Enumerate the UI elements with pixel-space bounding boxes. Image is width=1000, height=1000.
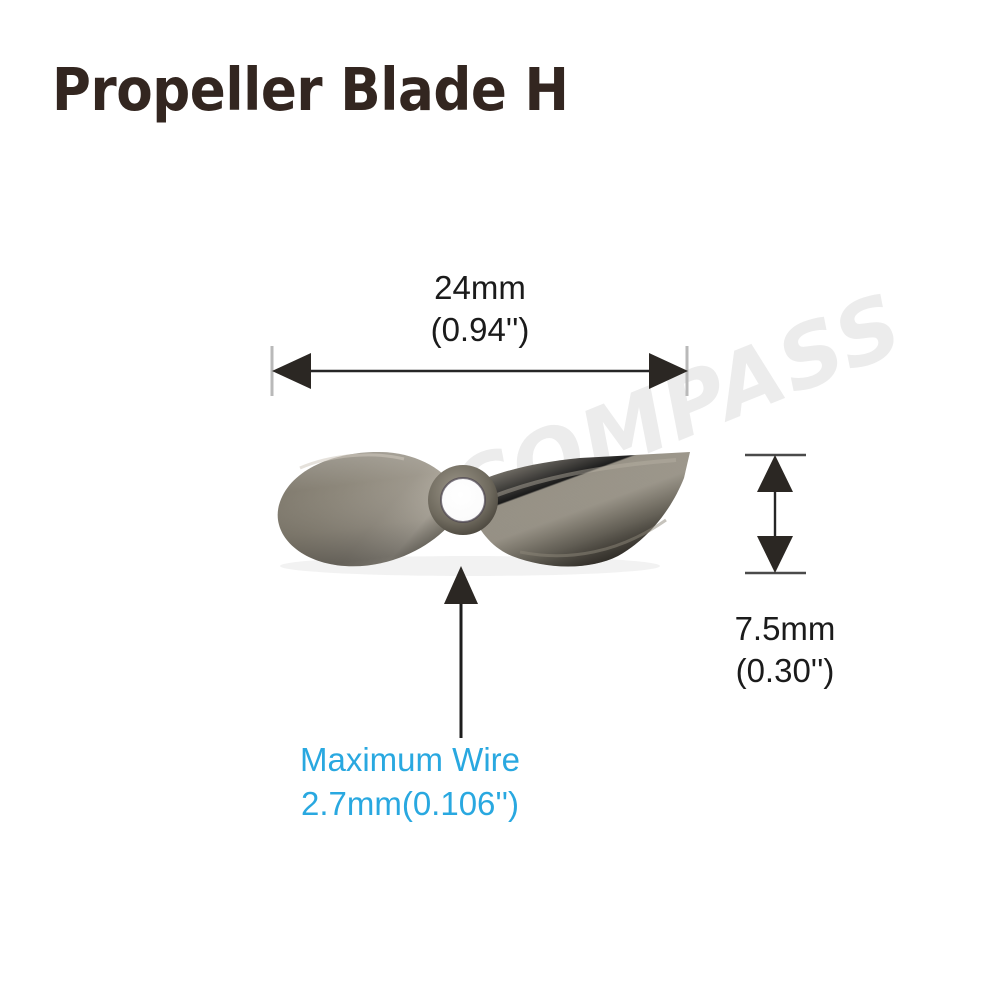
wire-label-line1: Maximum Wire [240, 738, 580, 782]
wire-label-line2: 2.7mm(0.106'') [240, 782, 580, 826]
height-dimension-arrow [745, 455, 806, 573]
width-metric-value: 24mm [300, 267, 660, 309]
height-imperial-value: (0.30'') [690, 650, 880, 692]
wire-callout-arrow [444, 566, 478, 738]
width-dimension-label: 24mm (0.94'') [300, 267, 660, 351]
propeller-diagram [0, 0, 1000, 1000]
height-metric-value: 7.5mm [690, 608, 880, 650]
product-spec-figure: Propeller Blade H COMPASS [0, 0, 1000, 1000]
propeller-object [278, 452, 690, 576]
width-imperial-value: (0.94'') [300, 309, 660, 351]
height-dimension-label: 7.5mm (0.30'') [690, 608, 880, 692]
maximum-wire-label: Maximum Wire 2.7mm(0.106'') [240, 738, 580, 826]
width-dimension-arrow [272, 346, 688, 396]
